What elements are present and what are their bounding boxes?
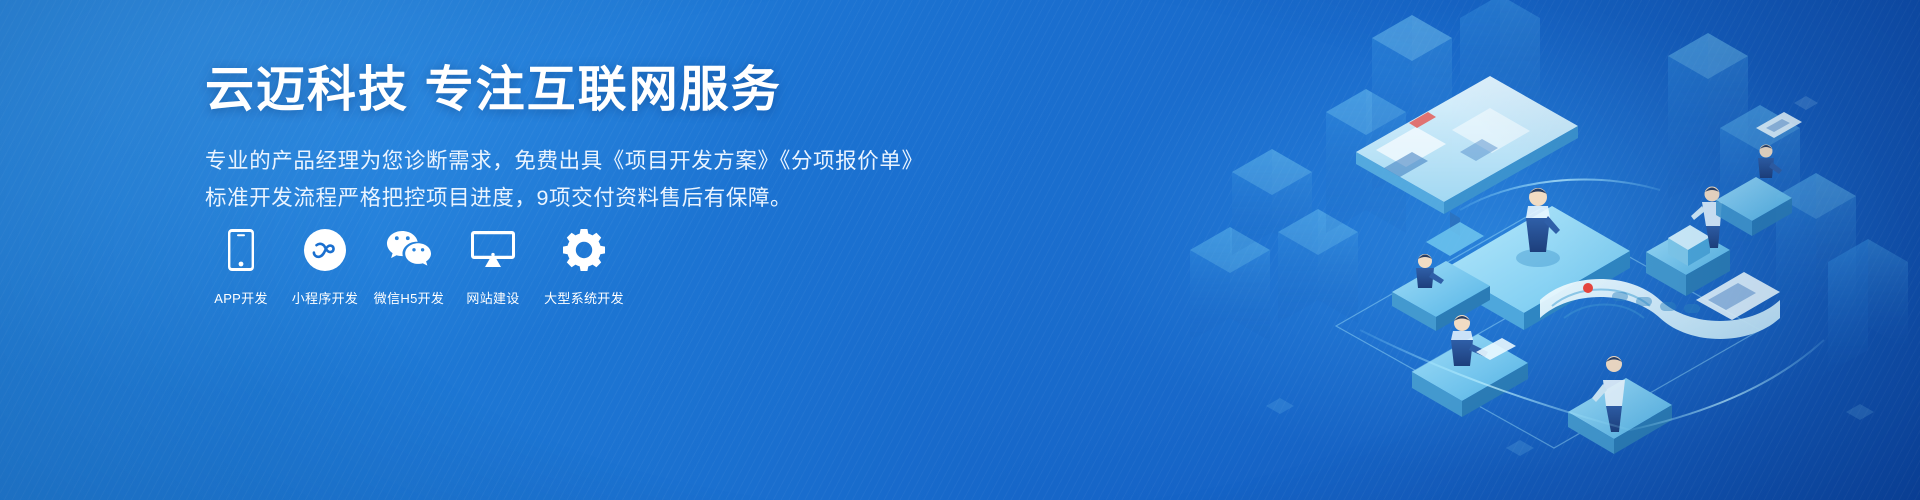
service-item-wechat-h5[interactable]: 微信H5开发 [373,228,445,307]
subtitle-line-1: 专业的产品经理为您诊断需求，免费出具《项目开发方案》《分项报价单》 [205,143,965,180]
service-label: 微信H5开发 [374,288,444,307]
gear-icon [563,228,605,272]
service-label: 小程序开发 [292,288,359,307]
service-label: 大型系统开发 [544,288,624,307]
banner-subtitle: 专业的产品经理为您诊断需求，免费出具《项目开发方案》《分项报价单》 标准开发流程… [205,143,965,217]
banner-content: 云迈科技 专注互联网服务 专业的产品经理为您诊断需求，免费出具《项目开发方案》《… [205,62,965,217]
service-item-website[interactable]: 网站建设 [457,228,529,307]
service-label: 网站建设 [466,288,519,307]
service-label: APP开发 [214,288,268,307]
service-item-app[interactable]: APP开发 [205,228,277,307]
isometric-illustration [1160,0,1920,500]
hero-banner: 云迈科技 专注互联网服务 专业的产品经理为您诊断需求，免费出具《项目开发方案》《… [0,0,1920,500]
service-item-mini-program[interactable]: 小程序开发 [289,228,361,307]
page-title: 云迈科技 专注互联网服务 [205,62,965,118]
mini-program-icon [304,228,346,272]
subtitle-line-2: 标准开发流程严格把控项目进度，9项交付资料售后有保障。 [205,180,965,217]
mobile-phone-icon [228,228,254,272]
service-item-large-system[interactable]: 大型系统开发 [541,228,627,307]
service-list: APP开发 小程序开发 微信H5开发 [205,228,639,307]
monitor-icon [471,228,515,272]
wechat-icon [386,228,432,272]
